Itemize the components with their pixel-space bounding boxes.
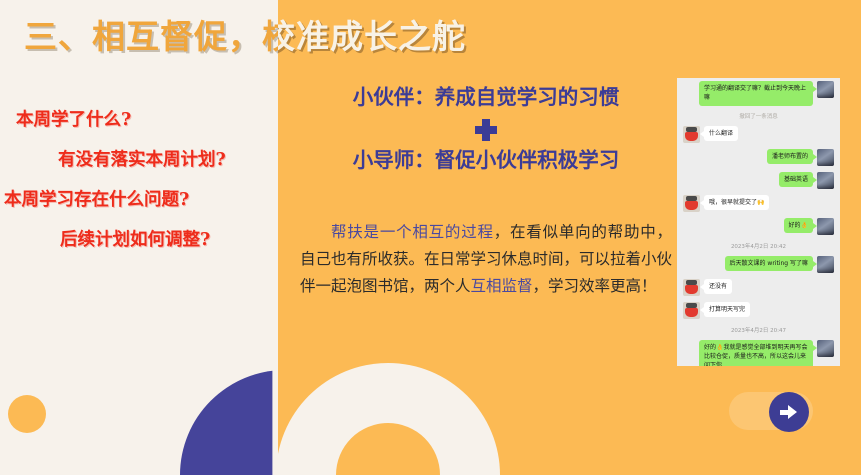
- partner-role-heading: 小伙伴：养成自觉学习的习惯: [300, 84, 672, 111]
- chat-message-row: 好的👌我就是感觉全部堆到明天再写会比较仓促，质量也不高，所以这会儿来问下你: [677, 337, 840, 366]
- doll-avatar[interactable]: [683, 126, 700, 143]
- question-list: 本周学了什么? 有没有落实本周计划? 本周学习存在什么问题? 后续计划如何调整?: [0, 110, 278, 270]
- chat-message-row: 好的👌: [677, 215, 840, 238]
- chat-bubble[interactable]: 潘老师布置的: [767, 149, 813, 164]
- question-item-4: 后续计划如何调整?: [0, 230, 278, 252]
- chat-system-notice: 撤回了一条消息: [677, 109, 840, 123]
- doll-avatar[interactable]: [683, 302, 700, 319]
- chat-message-row: 还没有: [677, 276, 840, 299]
- chat-bubble[interactable]: 基础英语: [779, 172, 813, 187]
- mentor-role-heading: 小导师：督促小伙伴积极学习: [300, 147, 672, 174]
- page-title-text-overlay: 三、相互督促，校准成长之舵: [278, 10, 466, 58]
- doll-avatar[interactable]: [683, 279, 700, 296]
- chat-message-row: 基础英语: [677, 169, 840, 192]
- question-item-2: 有没有落实本周计划?: [0, 150, 278, 172]
- chat-message-row: 哦，很早就提交了🙌: [677, 192, 840, 215]
- chat-message-row: 潘老师布置的: [677, 146, 840, 169]
- chat-bubble[interactable]: 学习通的翻译交了嘛？截止到今天晚上嘛: [699, 81, 813, 106]
- arrow-right-icon: [780, 405, 798, 419]
- man-avatar[interactable]: [817, 172, 834, 189]
- chat-message-row: 什么翻译: [677, 123, 840, 146]
- question-item-1: 本周学了什么?: [0, 110, 278, 132]
- slide-root: 三、相互督促，校准成长之舵 三、相互督促，校准成长之舵 本周学了什么? 有没有落…: [0, 0, 861, 475]
- chat-screenshot: 学习通的翻译交了嘛？截止到今天晚上嘛撤回了一条消息什么翻译潘老师布置的基础英语哦…: [677, 78, 840, 366]
- page-title-orange-overlay: 三、相互督促，校准成长之舵: [278, 4, 861, 60]
- chat-bubble[interactable]: 好的👌我就是感觉全部堆到明天再写会比较仓促，质量也不高，所以这会儿来问下你: [699, 340, 813, 366]
- decorative-orange-dot: [8, 395, 46, 433]
- chat-timestamp: 2023年4月2日 20:47: [677, 322, 840, 337]
- man-avatar[interactable]: [817, 218, 834, 235]
- chat-bubble[interactable]: 什么翻译: [704, 126, 738, 141]
- chat-timestamp: 2023年4月2日 20:42: [677, 238, 840, 253]
- paragraph-text-2: ，学习效率更高！: [533, 277, 657, 295]
- paragraph-highlight-1: 帮扶是一个相互的过程: [331, 223, 494, 241]
- next-slide-button[interactable]: [769, 392, 809, 432]
- man-avatar[interactable]: [817, 256, 834, 273]
- chat-bubble[interactable]: 打算明天写完: [704, 302, 750, 317]
- question-item-3: 本周学习存在什么问题?: [0, 190, 278, 212]
- plus-icon: [475, 119, 497, 141]
- body-paragraph: 帮扶是一个相互的过程，在看似单向的帮助中，自己也有所收获。在日常学习休息时间，可…: [300, 219, 672, 299]
- chat-message-row: 后天散文课的 writing 写了嘛: [677, 253, 840, 276]
- man-avatar[interactable]: [817, 340, 834, 357]
- middle-column: 小伙伴：养成自觉学习的习惯 小导师：督促小伙伴积极学习 帮扶是一个相互的过程，在…: [300, 84, 672, 299]
- page-title: 三、相互督促，校准成长之舵 三、相互督促，校准成长之舵: [0, 4, 861, 60]
- man-avatar[interactable]: [817, 81, 834, 98]
- chat-bubble[interactable]: 哦，很早就提交了🙌: [704, 195, 769, 210]
- chat-bubble[interactable]: 还没有: [704, 279, 732, 294]
- chat-message-row: 打算明天写完: [677, 299, 840, 322]
- man-avatar[interactable]: [817, 149, 834, 166]
- chat-message-row: 学习通的翻译交了嘛？截止到今天晚上嘛: [677, 78, 840, 109]
- doll-avatar[interactable]: [683, 195, 700, 212]
- paragraph-highlight-2: 互相监督: [471, 277, 533, 295]
- chat-bubble[interactable]: 好的👌: [784, 218, 813, 233]
- chat-bubble[interactable]: 后天散文课的 writing 写了嘛: [725, 256, 814, 271]
